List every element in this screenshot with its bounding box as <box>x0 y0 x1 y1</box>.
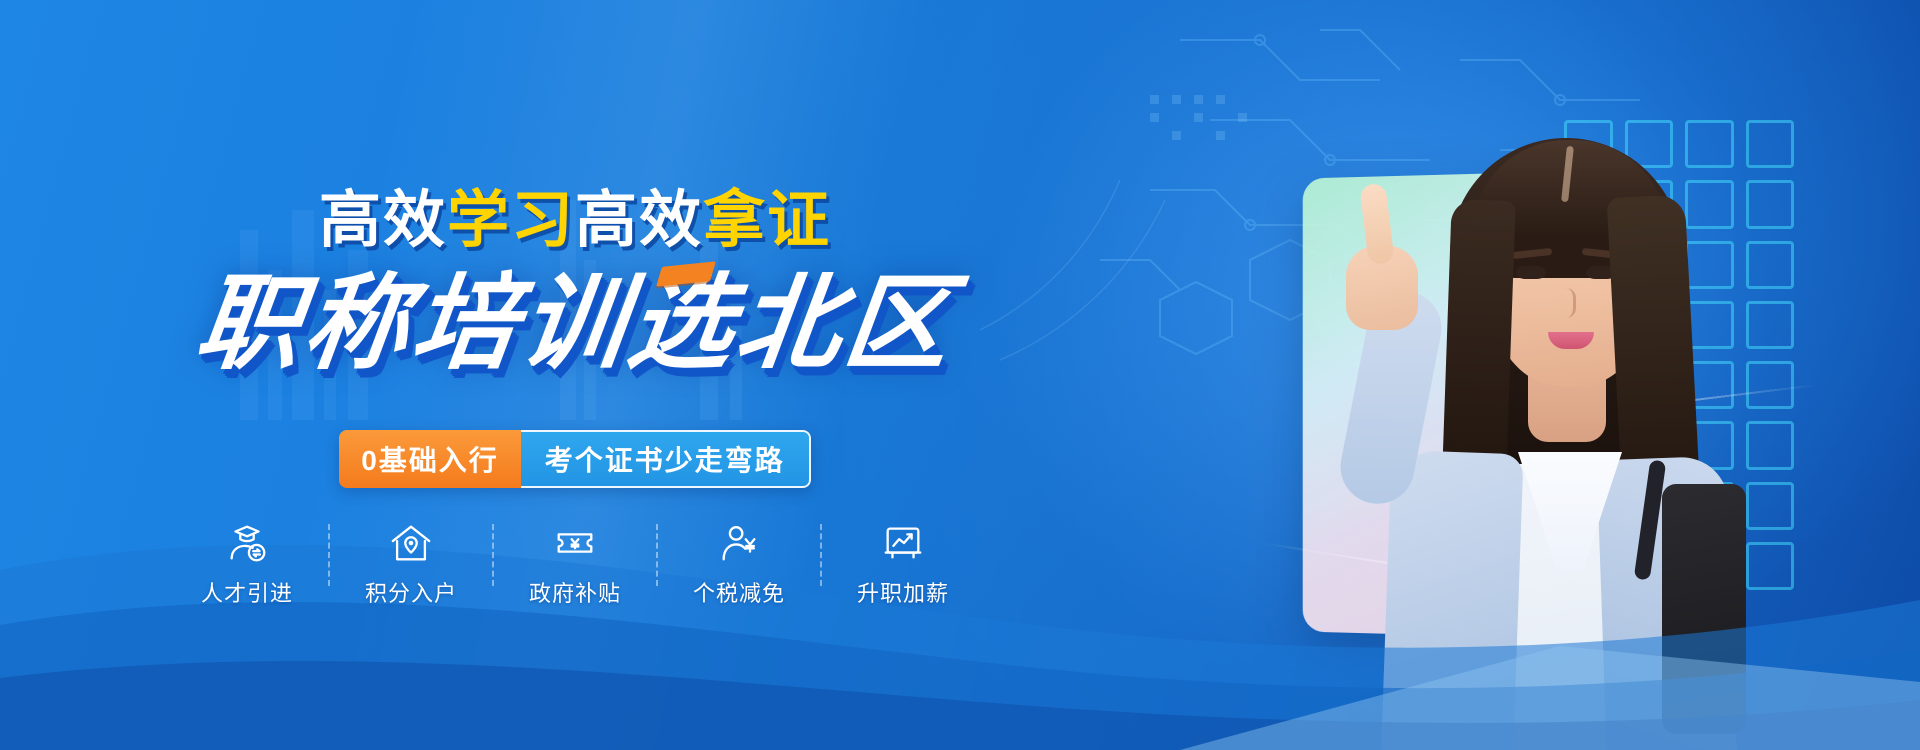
ticket-yuan-icon <box>552 520 598 566</box>
headline: 高效学习高效拿证 <box>0 190 1150 252</box>
promotional-banner: 高效学习高效拿证 职称培训选北区 0基础入行 考个证书少走弯路 人才引 <box>0 0 1920 750</box>
main-title-wrapper: 职称培训选北区 <box>0 268 1150 388</box>
promo-badge[interactable]: 0基础入行 考个证书少走弯路 <box>339 430 811 488</box>
headline-part-4: 拿证 <box>703 190 831 252</box>
feature-item-promotion-raise[interactable]: 升职加薪 <box>836 520 970 608</box>
feature-label: 政府补贴 <box>529 576 621 608</box>
feature-list: 人才引进 积分入户 政府补贴 <box>0 520 1150 608</box>
feature-label: 个税减免 <box>693 576 785 608</box>
feature-divider <box>820 524 822 586</box>
headline-part-3: 高效 <box>575 190 703 252</box>
person-yuan-icon <box>716 520 762 566</box>
house-location-pin-icon <box>388 520 434 566</box>
feature-label: 升职加薪 <box>857 576 949 608</box>
badge-row: 0基础入行 考个证书少走弯路 <box>0 430 1150 488</box>
feature-divider <box>328 524 330 586</box>
badge-right-label: 考个证书少走弯路 <box>521 430 811 488</box>
feature-divider <box>492 524 494 586</box>
feature-item-government-subsidy[interactable]: 政府补贴 <box>508 520 642 608</box>
banner-content: 高效学习高效拿证 职称培训选北区 0基础入行 考个证书少走弯路 人才引 <box>0 0 1150 750</box>
feature-item-tax-reduction[interactable]: 个税减免 <box>672 520 806 608</box>
headline-part-1: 高效 <box>319 190 447 252</box>
feature-item-talent-introduction[interactable]: 人才引进 <box>180 520 314 608</box>
main-title: 职称培训选北区 <box>190 268 960 380</box>
badge-left-label: 0基础入行 <box>339 430 521 488</box>
growth-chart-icon <box>880 520 926 566</box>
feature-divider <box>656 524 658 586</box>
headline-part-2: 学习 <box>447 190 575 252</box>
feature-label: 人才引进 <box>201 576 293 608</box>
graduate-person-icon <box>224 520 270 566</box>
feature-item-points-residency[interactable]: 积分入户 <box>344 520 478 608</box>
feature-label: 积分入户 <box>365 576 457 608</box>
